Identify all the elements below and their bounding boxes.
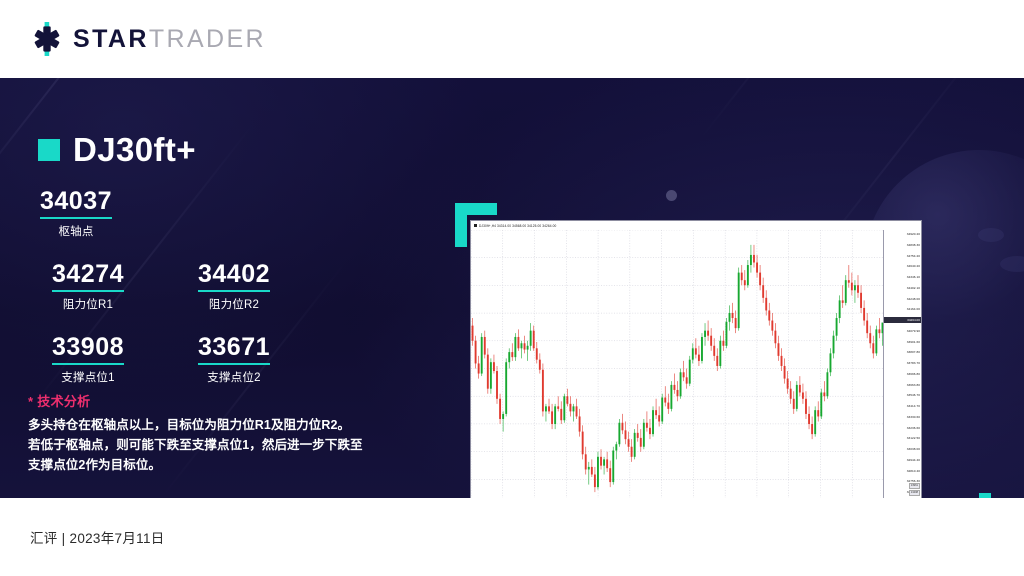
level-s2-label: 支撑点位2 xyxy=(168,369,300,385)
level-s1-value: 33908 xyxy=(52,334,124,365)
level-s1: 33908 支撑点位1 xyxy=(22,334,154,385)
price-axis-tick: 33236.60 xyxy=(907,427,920,430)
price-axis-tick: 34754.20 xyxy=(907,255,920,258)
analysis-line-1: 多头持仓在枢轴点以上，目标位为阻力位R1及阻力位R2。 xyxy=(28,416,408,436)
chart-header-square-icon xyxy=(474,224,477,227)
footer-caption: 汇评 | 2023年7月11日 xyxy=(30,527,165,547)
pivot-row: 34037 枢轴点 xyxy=(0,188,300,239)
brand-logo: STARTRADER xyxy=(30,22,266,56)
candlestick-plot-area xyxy=(471,230,883,498)
price-axis-tick: 33783.70 xyxy=(907,362,920,365)
main-stage: DJ30ft+ 34037 枢轴点 34274 阻力位R1 34402 阻力位R… xyxy=(0,78,1024,498)
analysis-line-3: 支撑点位2作为目标位。 xyxy=(28,456,408,476)
pivot-levels: 34037 枢轴点 34274 阻力位R1 34402 阻力位R2 33908 … xyxy=(0,188,300,385)
price-axis-tick: 33414.70 xyxy=(907,405,920,408)
level-r1-label: 阻力位R1 xyxy=(22,296,154,312)
price-axis-tick: 34402.10 xyxy=(907,287,920,290)
price-axis-tick: 33807.80 xyxy=(907,351,920,354)
page-title: DJ30ft+ xyxy=(38,133,196,166)
price-axis: 34920.2034838.3034754.2034640.2034346.10… xyxy=(883,230,921,498)
price-axis-tick: 34920.20 xyxy=(907,233,920,236)
brand-wordmark: STARTRADER xyxy=(73,27,266,52)
price-axis-tick: 34346.10 xyxy=(907,276,920,279)
brand-name-bold: STAR xyxy=(73,25,149,53)
level-pivot-label: 枢轴点 xyxy=(40,223,112,239)
level-r1-value: 34274 xyxy=(52,261,124,292)
brand-name-light: TRADER xyxy=(149,25,266,53)
level-pivot: 34037 枢轴点 xyxy=(40,188,112,239)
price-axis-tick: 33038.00 xyxy=(907,448,920,451)
level-r1: 34274 阻力位R1 xyxy=(22,261,154,312)
instrument-name: DJ30ft+ xyxy=(73,133,196,166)
price-axis-tick: 33696.80 xyxy=(907,373,920,376)
chart-corner-label: 13961 xyxy=(909,483,920,489)
chart-ohlc-header: DJ30ft+,H4 34314.00 34568.00 34125.00 34… xyxy=(471,221,921,230)
current-price-marker: 34264.00 xyxy=(883,317,921,323)
price-axis-tick: 34248.00 xyxy=(907,298,920,301)
price-axis-tick: 32810.40 xyxy=(907,470,920,473)
analysis-line-2: 若低于枢轴点，则可能下跌至支撑点位1，然后进一步下跌至 xyxy=(28,436,408,456)
price-chart-window: DJ30ft+,H4 34314.00 34568.00 34125.00 34… xyxy=(470,220,922,498)
level-pivot-value: 34037 xyxy=(40,188,112,219)
planet-crater xyxy=(978,228,1004,242)
price-axis-tick: 34640.20 xyxy=(907,265,920,268)
price-axis-tick: 34164.00 xyxy=(907,308,920,311)
asterisk-star-icon xyxy=(30,22,64,56)
title-bullet-square xyxy=(38,139,60,161)
instrument-info-panel: DJ30ft+ 34037 枢轴点 34274 阻力位R1 34402 阻力位R… xyxy=(0,78,440,498)
price-axis-tick: 34079.90 xyxy=(907,330,920,333)
level-r2-value: 34402 xyxy=(198,261,270,292)
price-axis-tick: 32944.40 xyxy=(907,459,920,462)
chart-header-text: DJ30ft+,H4 34314.00 34568.00 34125.00 34… xyxy=(479,224,556,228)
level-r2-label: 阻力位R2 xyxy=(168,296,300,312)
level-r2: 34402 阻力位R2 xyxy=(168,261,300,312)
analysis-heading: * 技术分析 xyxy=(28,391,408,410)
price-axis-tick: 33901.60 xyxy=(907,341,920,344)
technical-analysis: * 技术分析 多头持仓在枢轴点以上，目标位为阻力位R1及阻力位R2。 若低于枢轴… xyxy=(28,391,408,475)
price-axis-tick: 34838.30 xyxy=(907,244,920,247)
level-s1-label: 支撑点位1 xyxy=(22,369,154,385)
candlestick-svg xyxy=(471,230,883,498)
level-s2: 33671 支撑点位2 xyxy=(168,334,300,385)
price-axis-tick: 33546.70 xyxy=(907,394,920,397)
price-axis-tick: 33122.50 xyxy=(907,437,920,440)
dot-decoration xyxy=(666,190,677,201)
page-header: STARTRADER xyxy=(0,0,1024,78)
support-row: 33908 支撑点位1 33671 支撑点位2 xyxy=(0,312,300,385)
resistance-row: 34274 阻力位R1 34402 阻力位R2 xyxy=(0,239,300,312)
page-footer: 汇评 | 2023年7月11日 xyxy=(0,498,1024,576)
level-s2-value: 33671 xyxy=(198,334,270,365)
chart-corner-label: 13408 xyxy=(909,490,920,496)
price-axis-tick: 33330.60 xyxy=(907,416,920,419)
price-axis-tick: 33663.80 xyxy=(907,384,920,387)
